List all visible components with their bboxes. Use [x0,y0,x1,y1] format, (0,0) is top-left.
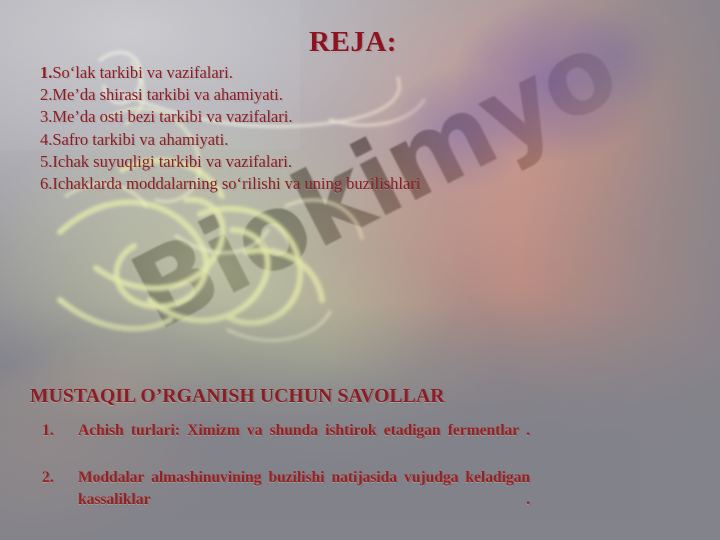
list-item-label: Ichaklarda moddalarning so‘rilishi va un… [52,174,420,193]
list-item: 6.Ichaklarda moddalarning so‘rilishi va … [40,173,580,195]
presentation-slide: Biokimyo [0,0,720,540]
list-item-number: 6. [40,174,52,193]
page-title-text: REJA: [309,26,411,59]
list-item-number: 1. [42,420,54,442]
list-item-number: 1. [40,63,52,82]
list-item: 3. Galaktozamiya [30,536,530,540]
list-item-label: Ichak suyuqligi tarkibi va vazifalari. [52,152,292,171]
list-item-label: So‘lak tarkibi va vazifalari. [52,63,233,82]
list-item: 4.Safro tarkibi va ahamiyati. [40,129,580,151]
list-item-number: 3. [42,536,54,540]
section-heading: MUSTAQIL O’RGANISH UCHUN SAVOLLAR [30,386,445,408]
list-item: 1. Achish turlari: Ximizm va shunda isht… [30,420,530,465]
list-item-number: 4. [40,130,52,149]
list-item: 3.Me’da osti bezi tarkibi va vazifalari. [40,106,580,128]
list-item: 2.Me’da shirasi tarkibi va ahamiyati. [40,84,580,106]
list-item-number: 5. [40,152,52,171]
list-item-label: Me’da shirasi tarkibi va ahamiyati. [52,85,282,104]
savollar-list: 1. Achish turlari: Ximizm va shunda isht… [30,420,530,540]
list-item-number: 2. [42,467,54,489]
list-item-label: Moddalar almashinuvining buzilishi natij… [78,467,530,534]
list-item: 1.So‘lak tarkibi va vazifalari. [40,62,580,84]
list-item: 5.Ichak suyuqligi tarkibi va vazifalari. [40,151,580,173]
reja-list: 1.So‘lak tarkibi va vazifalari. 2.Me’da … [40,62,580,195]
list-item: 2. Moddalar almashinuvining buzilishi na… [30,467,530,534]
list-item-label: Achish turlari: Ximizm va shunda ishtiro… [78,420,530,465]
list-item-label: Galaktozamiya [78,536,530,540]
list-item-label: Safro tarkibi va ahamiyati. [52,130,228,149]
list-item-label: Me’da osti bezi tarkibi va vazifalari. [52,107,292,126]
list-item-number: 2. [40,85,52,104]
page-title: REJA: [0,26,720,59]
list-item-number: 3. [40,107,52,126]
